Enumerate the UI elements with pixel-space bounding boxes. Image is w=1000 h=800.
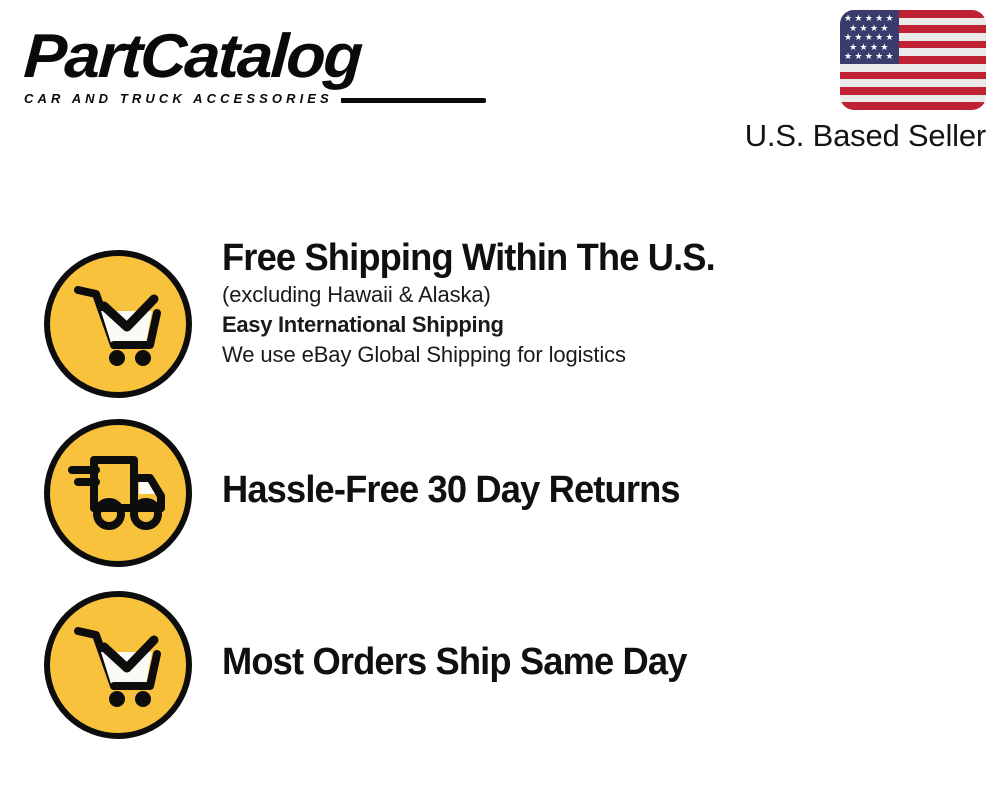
feature-free-shipping: Free Shipping Within The U.S. (excluding… xyxy=(0,250,1000,400)
feature-title: Most Orders Ship Same Day xyxy=(222,640,948,684)
feature-same-day-shipping: Most Orders Ship Same Day xyxy=(0,591,1000,741)
feature-note: (excluding Hawaii & Alaska) xyxy=(222,280,982,310)
feature-free-shipping-text: Free Shipping Within The U.S. (excluding… xyxy=(222,236,982,370)
feature-title: Hassle-Free 30 Day Returns xyxy=(222,468,948,512)
feature-title: Free Shipping Within The U.S. xyxy=(222,236,948,280)
shopping-cart-check-icon xyxy=(44,591,192,739)
shopping-cart-check-icon xyxy=(44,250,192,398)
delivery-truck-icon xyxy=(44,419,192,567)
feature-subtitle: Easy International Shipping xyxy=(222,310,982,340)
feature-subtext: We use eBay Global Shipping for logistic… xyxy=(222,340,982,370)
feature-returns: Hassle-Free 30 Day Returns xyxy=(0,419,1000,569)
feature-list: Free Shipping Within The U.S. (excluding… xyxy=(0,0,1000,800)
feature-returns-text: Hassle-Free 30 Day Returns xyxy=(222,468,982,512)
feature-same-day-text: Most Orders Ship Same Day xyxy=(222,640,982,684)
